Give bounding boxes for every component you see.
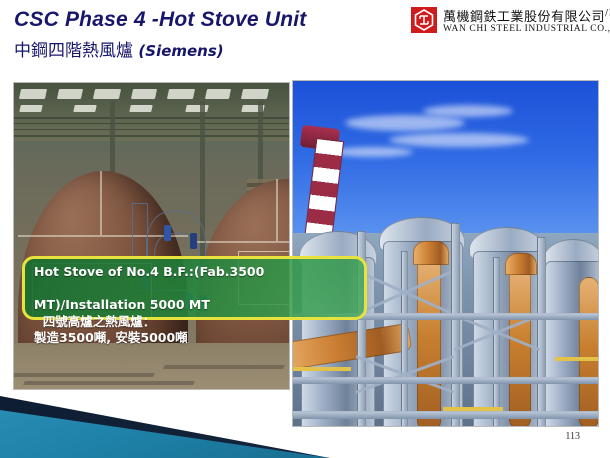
company-name-english: WAN CHI STEEL INDUSTRIAL CO., LTD.: [443, 24, 610, 34]
page-title-english: CSC Phase 4 -Hot Stove Unit: [14, 8, 306, 32]
company-name-chinese-text: 萬機鋼鉄工業股份有限公司: [443, 10, 605, 25]
page-title-vendor: (Siemens): [138, 42, 223, 60]
hot-stove-plant-photo: [292, 80, 599, 427]
wanchi-steel-emblem-icon: [411, 7, 437, 33]
company-name-chinese: 萬機鋼鉄工業股份有限公司/3: [443, 6, 610, 25]
company-logo: 萬機鋼鉄工業股份有限公司/3 WAN CHI STEEL INDUSTRIAL …: [411, 6, 607, 40]
company-name-superscript: /3: [605, 9, 610, 19]
slide-canvas: CSC Phase 4 -Hot Stove Unit 中鋼四階熱風爐 (Sie…: [0, 0, 610, 458]
callout-line-2: MT)/Installation 5000 MT 四號高爐之熱風爐：: [34, 281, 355, 331]
page-title-chinese: 中鋼四階熱風爐 (Siemens): [14, 36, 224, 61]
page-number: 113: [565, 431, 580, 442]
callout-line-2-zh: 四號高爐之熱風爐：: [43, 314, 156, 329]
callout-box: Hot Stove of No.4 B.F.:(Fab.3500 MT)/Ins…: [22, 256, 367, 320]
page-title-chinese-text: 中鋼四階熱風爐: [14, 41, 133, 61]
callout-line-2-en: MT)/Installation 5000 MT: [34, 297, 210, 312]
callout-line-3: 製造3500噸, 安裝5000噸: [34, 330, 355, 347]
callout-line-1: Hot Stove of No.4 B.F.:(Fab.3500: [34, 264, 355, 281]
